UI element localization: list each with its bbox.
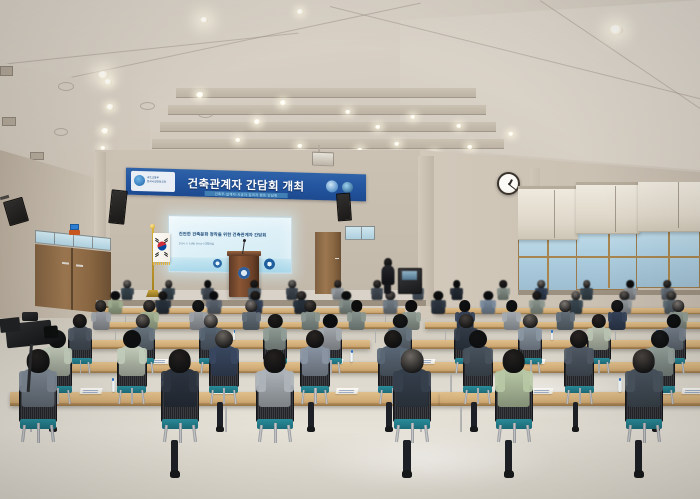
attendee-head	[373, 280, 381, 288]
attendee-shoulder	[587, 348, 595, 365]
attendee-head	[523, 314, 537, 329]
attendee-shoulder	[431, 300, 435, 309]
attendee-shoulder	[149, 328, 155, 341]
attendee-head	[667, 291, 676, 301]
chair-leg	[223, 388, 225, 404]
attendee-head	[323, 314, 337, 329]
emergency-light	[69, 230, 80, 235]
air-vent	[0, 66, 13, 76]
south-korean-flag	[153, 233, 170, 262]
attendee-shoulder	[286, 288, 289, 295]
attendee-shoulder	[336, 328, 342, 341]
attendee-head	[306, 330, 324, 348]
attendee-shoulder	[300, 348, 308, 365]
camera-top-handle	[22, 312, 38, 321]
chair-leg	[464, 390, 468, 404]
presenter-legs	[384, 284, 391, 294]
attendee-shoe	[504, 470, 514, 478]
attendee-shoulder	[523, 371, 533, 392]
screen-emblem-left-icon	[213, 259, 222, 268]
seated-attendee	[465, 330, 491, 378]
attendee-shoulder	[139, 348, 147, 365]
banner-subtitle: 건축주·설계자·시공자·감리자 합동 간담회	[205, 191, 288, 198]
attendee-head	[165, 280, 173, 288]
ceiling-downlight	[98, 71, 108, 79]
camera-lens-hood	[0, 317, 21, 333]
attendee-head	[334, 280, 342, 288]
ceiling-projector	[312, 152, 334, 167]
attendee-head	[136, 314, 150, 329]
seated-attendee	[258, 349, 291, 409]
attendee-head	[297, 291, 306, 301]
air-vent	[2, 117, 16, 126]
ceiling-downlight	[104, 79, 112, 85]
seated-attendee	[451, 280, 462, 300]
seated-attendee	[581, 280, 592, 300]
attendee-head	[268, 314, 282, 329]
video-camera-rig	[0, 312, 86, 392]
ceiling-speaker-ring	[54, 128, 68, 136]
chair-leg	[118, 390, 122, 404]
attendee-shoulder	[463, 348, 471, 365]
attendee-shoulder	[628, 300, 632, 309]
screen-subtitle: 2024. 0. 0.(목) 00:00 / 대회의실	[179, 242, 214, 246]
attendee-shoulder	[256, 371, 266, 392]
chair-leg	[37, 423, 40, 443]
roller-blind[interactable]	[576, 182, 640, 234]
screen-title: 건전한 건축문화 정착을 위한 건축관계자 간담회	[179, 232, 267, 239]
attendee-head	[384, 330, 402, 348]
attendee-shoulder	[209, 348, 217, 365]
podium-emblem-icon	[238, 267, 250, 279]
ceiling-downlight	[297, 9, 304, 14]
seated-attendee	[481, 291, 495, 316]
attendee-shoulder	[497, 288, 500, 295]
attendee-shoulder	[416, 312, 421, 323]
seated-attendee	[265, 314, 286, 352]
seated-attendee	[93, 300, 110, 331]
attendee-shoulder	[201, 288, 204, 295]
attendee-head	[570, 330, 588, 348]
attendee-head	[506, 300, 518, 312]
attendee-shoulder	[293, 300, 297, 309]
attendee-leg	[386, 402, 392, 428]
attendee-shoulder	[518, 328, 524, 341]
roller-blind[interactable]	[638, 182, 700, 232]
blind-cord[interactable]	[678, 182, 679, 228]
standing-presenter	[381, 258, 395, 292]
paper-text-line	[685, 391, 700, 392]
organization-emblem-icon	[134, 175, 145, 186]
screen-emblem-right-icon	[264, 258, 275, 269]
attendee-shoulder	[507, 288, 510, 295]
paper-text-line	[339, 391, 355, 392]
attendee-shoulder	[206, 300, 210, 309]
bottle-cap	[619, 378, 621, 381]
chair-leg	[513, 423, 516, 443]
attendee-head	[453, 280, 461, 288]
attendee-head	[305, 300, 317, 312]
water-bottle	[551, 332, 553, 340]
attendee-head	[484, 291, 493, 301]
door-seam	[71, 248, 73, 310]
chair-leg	[455, 362, 458, 373]
attendee-shoulder	[339, 300, 343, 309]
seated-attendee	[348, 300, 365, 331]
attendee-leg	[635, 440, 642, 473]
handout-paper	[336, 388, 359, 394]
attendee-shoulder	[281, 328, 287, 341]
attendee-shoulder	[633, 288, 636, 295]
attendee-shoulder	[485, 348, 493, 365]
ceiling-coffer	[152, 139, 504, 149]
chair-leg	[179, 423, 182, 443]
paper-text-line	[533, 389, 549, 390]
attendee-shoulder	[119, 300, 123, 309]
chair-leg	[379, 390, 383, 404]
attendee-head	[123, 330, 141, 348]
attendee-shoulder	[371, 288, 374, 295]
attendee-head	[537, 280, 545, 288]
chair-leg	[411, 423, 414, 443]
attendee-head	[469, 330, 487, 348]
attendee-head	[351, 300, 363, 312]
bottle-cap	[112, 378, 114, 381]
attendee-head	[393, 314, 407, 329]
attendee-shoulder	[536, 328, 542, 341]
door-handle[interactable]	[335, 258, 339, 259]
seated-attendee	[243, 300, 260, 331]
attendee-shoulder	[502, 312, 507, 323]
seated-attendee	[302, 330, 328, 378]
attendee-shoulder	[361, 312, 366, 323]
camera-viewfinder	[43, 325, 58, 338]
attendee-shoulder	[460, 288, 463, 295]
chair-leg	[131, 388, 133, 404]
attendee-head	[288, 280, 296, 288]
attendee-head	[502, 349, 525, 372]
attendee-head	[620, 291, 629, 301]
flag-pole	[152, 228, 154, 290]
ceiling-coffer	[176, 88, 476, 98]
table-leg	[460, 406, 462, 432]
air-vent	[30, 152, 44, 160]
attendee-shoulder	[653, 371, 663, 392]
ceiling-downlight	[101, 128, 108, 134]
attendee-shoulder	[331, 288, 334, 295]
handout-paper	[530, 388, 553, 394]
attendee-shoulder	[450, 288, 453, 295]
attendee-shoulder	[564, 348, 572, 365]
paper-text-line	[533, 391, 549, 392]
chair-leg	[643, 423, 646, 443]
attendee-shoulder	[117, 348, 125, 365]
roller-blind[interactable]	[518, 186, 578, 240]
attendee-head	[627, 280, 635, 288]
attendee-shoulder	[540, 300, 544, 309]
attendee-head	[168, 349, 191, 372]
flag-finial	[150, 224, 155, 229]
attendee-shoe	[216, 426, 224, 432]
attendee-head	[143, 300, 155, 312]
attendee-shoulder	[263, 328, 269, 341]
attendee-shoulder	[529, 300, 533, 309]
seated-attendee	[498, 280, 509, 300]
presenter-torso	[382, 265, 395, 285]
tripod-leg	[27, 344, 33, 392]
seated-attendee	[396, 349, 429, 409]
back-wall-window	[345, 226, 375, 240]
av-monitor-screen	[402, 271, 417, 280]
water-bottle	[350, 352, 353, 362]
attendee-head	[342, 291, 351, 301]
chair-leg	[210, 390, 214, 404]
attendee-head	[459, 314, 473, 329]
attendee-shoulder	[604, 328, 610, 341]
banner-logo-left: 국토교통부한국시설안전공단	[131, 171, 175, 192]
attendee-shoulder	[383, 300, 387, 309]
attendee-head	[673, 300, 685, 312]
ceiling-downlight	[106, 104, 114, 110]
attendee-head	[246, 300, 258, 312]
attendee-head	[632, 349, 655, 372]
attendee-head	[124, 280, 132, 288]
attendee-head	[204, 280, 212, 288]
table-leg	[225, 406, 227, 432]
attendee-shoulder	[284, 371, 294, 392]
attendee-head	[583, 280, 591, 288]
door-handle[interactable]	[76, 264, 83, 266]
attendee-leg	[217, 402, 223, 428]
attendee-shoe	[170, 470, 180, 478]
attendee-shoulder	[91, 312, 96, 323]
attendee-shoulder	[167, 300, 171, 309]
chair-leg	[314, 388, 316, 404]
wall-speaker-right	[336, 193, 352, 222]
attendee-leg	[403, 440, 410, 473]
table-leg	[450, 373, 452, 394]
attendee-shoulder	[495, 371, 505, 392]
blind-cord[interactable]	[615, 186, 616, 232]
attendee-shoe	[572, 426, 580, 432]
attendee-shoulder	[622, 312, 627, 323]
attendee-head	[263, 349, 286, 372]
attendee-shoulder	[189, 312, 194, 323]
attendee-head	[532, 291, 541, 301]
attendee-head	[251, 291, 260, 301]
seated-attendee	[627, 349, 660, 409]
door-handle[interactable]	[62, 262, 69, 264]
attendee-head	[95, 300, 107, 312]
chair-leg	[477, 388, 479, 404]
chair-leg	[274, 423, 277, 443]
ceiling-coffer	[160, 122, 496, 132]
ceiling-speaker-ring	[58, 82, 74, 91]
attendee-head	[560, 300, 572, 312]
seated-attendee	[384, 291, 398, 316]
attendee-shoulder	[130, 288, 133, 295]
attendee-shoulder	[256, 312, 261, 323]
attendee-shoulder	[394, 300, 398, 309]
water-bottle	[618, 380, 621, 392]
attendee-leg	[471, 402, 477, 428]
attendee-head	[651, 330, 669, 348]
attendee-shoulder	[161, 371, 171, 392]
attendee-shoulder	[492, 300, 496, 309]
attendee-shoulder	[590, 288, 593, 295]
attendee-head	[459, 300, 471, 312]
attendee-shoulder	[301, 312, 306, 323]
attendee-shoe	[385, 426, 393, 432]
attendee-shoulder	[454, 328, 460, 341]
clock-center	[508, 183, 510, 185]
ceiling-downlight	[254, 119, 261, 124]
attendee-shoulder	[544, 288, 547, 295]
attendee-head	[158, 291, 167, 301]
ceiling-downlight	[394, 142, 400, 146]
attendee-shoulder	[154, 312, 159, 323]
attendee-shoe	[307, 426, 315, 432]
attendee-leg	[308, 402, 314, 428]
attendee-head	[251, 280, 259, 288]
ceiling-downlight	[508, 132, 514, 136]
water-bottle	[112, 380, 115, 392]
attendee-shoulder	[199, 328, 205, 341]
attendee-shoulder	[442, 300, 446, 309]
attendee-shoe	[470, 426, 478, 432]
attendee-shoulder	[218, 300, 222, 309]
attendee-leg	[505, 440, 512, 473]
seated-attendee	[520, 314, 541, 352]
attendee-head	[434, 291, 443, 301]
attendee-leg	[171, 440, 178, 473]
seated-attendee	[557, 300, 574, 331]
paper-text-line	[339, 389, 355, 390]
attendee-shoulder	[172, 288, 175, 295]
handout-paper	[682, 388, 700, 394]
ceiling-downlight	[467, 145, 473, 149]
podium-top	[227, 251, 261, 256]
flag-fringe	[153, 262, 170, 265]
bottle-cap	[551, 330, 552, 333]
attendee-shoulder	[189, 371, 199, 392]
attendee-head	[666, 314, 680, 329]
attendee-shoulder	[679, 328, 685, 341]
ceiling-downlight	[280, 100, 287, 105]
attendee-shoulder	[106, 312, 111, 323]
table-leg	[375, 329, 376, 343]
attendee-head	[192, 300, 204, 312]
seminar-room-photo: 국토교통부한국시설안전공단 건축관계자 간담회 개최 건축주·설계자·시공자·감…	[0, 0, 700, 499]
attendee-shoulder	[406, 328, 412, 341]
chair-leg	[579, 388, 581, 404]
seated-attendee	[432, 291, 446, 316]
attendee-head	[203, 314, 217, 329]
attendee-head	[209, 291, 218, 301]
attendee-shoulder	[377, 348, 385, 365]
attendee-head	[611, 300, 623, 312]
attendee-shoulder	[393, 371, 403, 392]
seated-attendee	[609, 300, 626, 331]
organization-emblem-icon	[326, 180, 338, 192]
attendee-shoulder	[322, 348, 330, 365]
banner-logo-left-text: 국토교통부한국시설안전공단	[147, 176, 166, 184]
attendee-shoe	[402, 470, 412, 478]
seated-attendee	[530, 291, 544, 316]
attendee-head	[591, 314, 605, 329]
attendee-shoe	[634, 470, 644, 478]
chair-leg	[395, 425, 400, 443]
paper-text-line	[685, 389, 700, 390]
attendee-shoulder	[242, 312, 247, 323]
seated-attendee	[566, 330, 592, 378]
attendee-head	[111, 291, 120, 301]
organization-emblem-icon	[342, 182, 353, 193]
ceiling-downlight	[196, 92, 203, 98]
attendee-shoulder	[625, 371, 635, 392]
seated-attendee	[119, 330, 145, 378]
chair-leg	[598, 360, 600, 373]
attendee-shoulder	[421, 371, 431, 392]
attendee-head	[405, 300, 417, 312]
attendee-shoulder	[556, 312, 561, 323]
bottle-cap	[351, 350, 353, 353]
attendee-shoulder	[570, 312, 575, 323]
seated-attendee	[207, 291, 221, 316]
attendee-head	[215, 330, 233, 348]
seated-attendee	[497, 349, 530, 409]
blind-cord[interactable]	[554, 190, 555, 238]
seated-attendee	[211, 330, 237, 378]
attendee-head	[500, 280, 508, 288]
clock-minute-hand	[508, 184, 516, 190]
chair-leg	[21, 425, 26, 443]
seated-attendee	[109, 291, 123, 316]
attendee-head	[571, 291, 580, 301]
seated-attendee	[122, 280, 133, 300]
seated-attendee	[504, 300, 521, 331]
attendee-head	[401, 349, 424, 372]
attendee-shoulder	[86, 328, 92, 341]
seated-attendee	[302, 300, 319, 331]
ceiling-coffer	[168, 105, 486, 115]
wall-clock	[497, 172, 520, 195]
attendee-shoulder	[347, 312, 352, 323]
seated-attendee	[163, 349, 196, 409]
attendee-leg	[573, 402, 579, 428]
attendee-shoulder	[231, 348, 239, 365]
attendee-head	[664, 280, 672, 288]
attendee-shoulder	[668, 348, 676, 365]
